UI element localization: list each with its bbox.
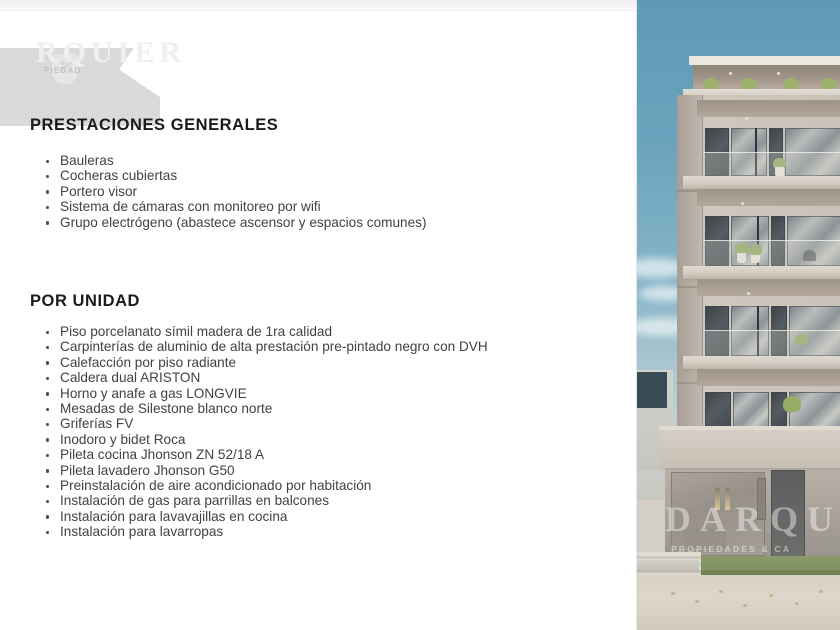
balcony-soffit (697, 100, 840, 117)
list-por-unidad: Piso porcelanato símil madera de 1ra cal… (44, 324, 488, 540)
list-item: Cocheras cubiertas (44, 168, 426, 183)
fallen-leaf (769, 594, 773, 597)
fallen-leaf (695, 600, 699, 603)
brochure-document-pane: RQUIER PIEDAD PRESTACIONES GENERALES Bau… (0, 0, 636, 630)
building-render-pane: DARQU PROPIEDADES & CA (636, 0, 840, 630)
ceiling-light (777, 72, 780, 75)
window-glass (705, 392, 731, 428)
list-item: Instalación para lavarropas (44, 524, 488, 539)
ceiling-light (741, 202, 744, 205)
list-item: Griferías FV (44, 416, 488, 431)
list-prestaciones-generales: Bauleras Cocheras cubiertas Portero viso… (44, 153, 426, 230)
neighbour-building-window (637, 372, 667, 408)
list-item: Inodoro y bidet Roca (44, 432, 488, 447)
list-item: Horno y anafe a gas LONGVIE (44, 386, 488, 401)
ceiling-light (747, 292, 750, 295)
balcony-plant (783, 396, 801, 412)
podium-wall (659, 430, 840, 470)
logo-subtitle: PIEDAD (44, 66, 81, 75)
rooftop-pergola-roof (689, 56, 840, 65)
floor-slab (683, 176, 840, 189)
floor-slab (683, 266, 840, 279)
list-item: Caldera dual ARISTON (44, 370, 488, 385)
list-item: Instalación de gas para parrillas en bal… (44, 493, 488, 508)
fallen-leaf (743, 604, 747, 607)
top-band (0, 0, 636, 11)
list-item: Portero visor (44, 184, 426, 199)
balcony-soffit (697, 369, 840, 386)
building-render-image: DARQU PROPIEDADES & CA (637, 0, 840, 630)
balcony-soffit (697, 189, 840, 206)
logo-wordmark: RQUIER (36, 36, 186, 70)
floor-slab (683, 356, 840, 369)
ceiling-light (745, 117, 748, 120)
section-heading-por-unidad: POR UNIDAD (30, 292, 140, 311)
window-glass (733, 392, 769, 428)
fallen-leaf (719, 590, 723, 593)
list-item: Preinstalación de aire acondicionado por… (44, 478, 488, 493)
balcony-railing (703, 330, 840, 356)
list-item: Bauleras (44, 153, 426, 168)
list-item: Piso porcelanato símil madera de 1ra cal… (44, 324, 488, 339)
list-item: Instalación para lavavajillas en cocina (44, 509, 488, 524)
list-item: Pileta lavadero Jhonson G50 (44, 463, 488, 478)
fallen-leaf (671, 592, 675, 595)
screenshot-root: RQUIER PIEDAD PRESTACIONES GENERALES Bau… (0, 0, 840, 630)
fallen-leaf (819, 590, 823, 593)
list-item: Grupo electrógeno (abastece ascensor y e… (44, 215, 426, 230)
balcony-railing (703, 240, 840, 266)
balcony-railing (703, 152, 840, 176)
list-item: Pileta cocina Jhonson ZN 52/18 A (44, 447, 488, 462)
list-item: Mesadas de Silestone blanco norte (44, 401, 488, 416)
list-item: Carpinterías de aluminio de alta prestac… (44, 339, 488, 354)
watermark-veil (637, 470, 840, 570)
list-item: Sistema de cámaras con monitoreo por wif… (44, 199, 426, 214)
ceiling-light (729, 72, 732, 75)
list-item: Calefacción por piso radiante (44, 355, 488, 370)
balcony-soffit (697, 279, 840, 296)
sidewalk-pavement (637, 575, 840, 630)
fallen-leaf (795, 602, 799, 605)
section-heading-prestaciones-generales: PRESTACIONES GENERALES (30, 116, 278, 135)
